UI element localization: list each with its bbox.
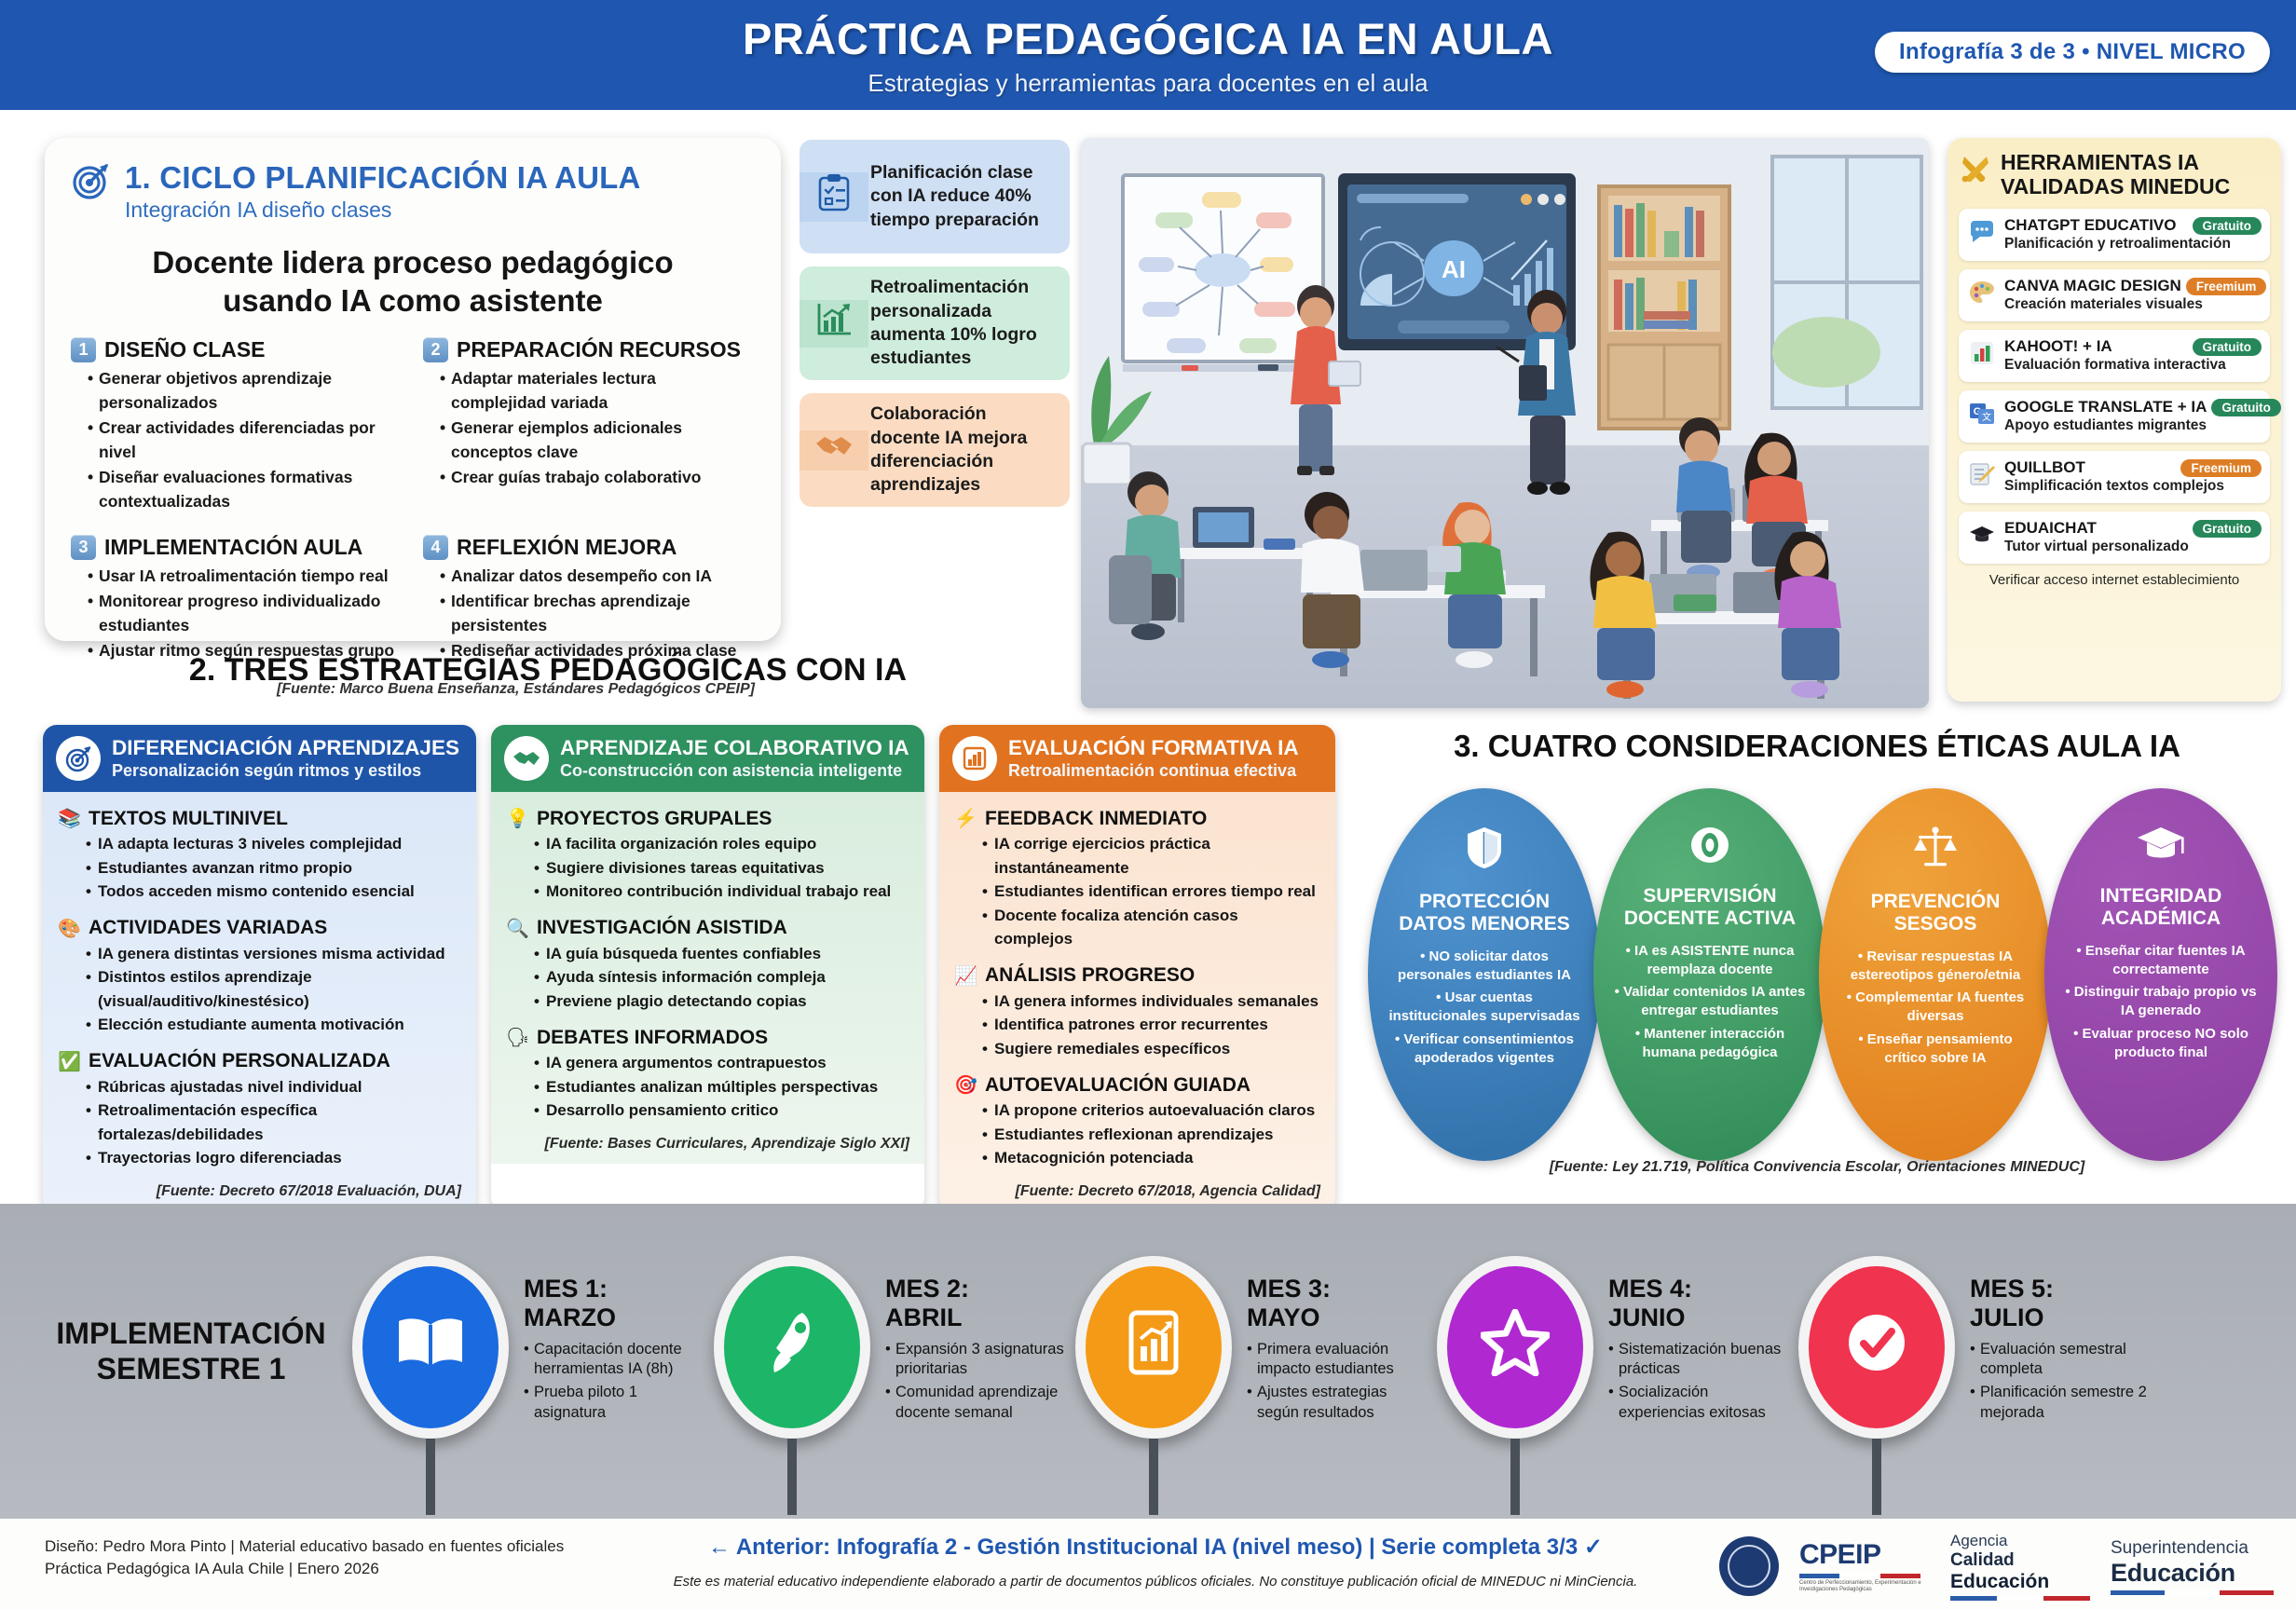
- list-item: Metacognición potenciada: [982, 1146, 1320, 1170]
- strategy-group: 🎨 ACTIVIDADES VARIADAS IA genera distint…: [58, 917, 461, 1037]
- tool-description: Evaluación formativa interactiva: [2004, 357, 2262, 374]
- classroom-illustration: AI: [1081, 138, 1929, 708]
- timeline-month-name: MARZO: [524, 1303, 703, 1332]
- panel1-banner-line2: usando IA como asistente: [71, 281, 755, 320]
- list-item: Sugiere divisiones tareas equitativas: [534, 856, 909, 880]
- panel1-step: 1 DISEÑO CLASE Generar objetivos aprendi…: [71, 337, 403, 515]
- tool-item[interactable]: QUILLBOT Freemium Simplificación textos …: [1959, 451, 2270, 503]
- footer-credit-line2: Práctica Pedagógica IA Aula Chile | Ener…: [45, 1558, 564, 1580]
- tools-title-line2: VALIDADAS MINEDUC: [2001, 175, 2230, 199]
- tools-header: HERRAMIENTAS IA VALIDADAS MINEDUC: [1959, 151, 2270, 199]
- tool-name: CHATGPT EDUCATIVO: [2004, 216, 2176, 235]
- header-center: PRÁCTICA PEDAGÓGICA IA EN AULA Estrategi…: [743, 13, 1553, 98]
- timeline-bubble-wrap: [1798, 1256, 1955, 1439]
- timeline-month: MES 5: JULIO Evaluación semestral comple…: [1798, 1256, 2149, 1439]
- previous-infographic-link[interactable]: ← Anterior: Infografía 2 - Gestión Insti…: [596, 1534, 1715, 1561]
- implementation-timeline: IMPLEMENTACIÓN SEMESTRE 1 MES 1: MARZO C…: [0, 1204, 2296, 1519]
- timeline-list: Sistematización buenas prácticas Sociali…: [1608, 1340, 1787, 1424]
- panel1-step: 4 REFLEXIÓN MEJORA Analizar datos desemp…: [423, 535, 755, 662]
- footer-center: ← Anterior: Infografía 2 - Gestión Insti…: [596, 1534, 1715, 1590]
- panel1-step: 2 PREPARACIÓN RECURSOS Adaptar materiale…: [423, 337, 755, 515]
- list-item: Rúbricas ajustadas nivel individual: [86, 1075, 461, 1099]
- ai-tools-panel: HERRAMIENTAS IA VALIDADAS MINEDUC CHATGP…: [1947, 138, 2281, 702]
- timeline-text: MES 4: JUNIO Sistematización buenas prác…: [1608, 1256, 1787, 1426]
- timeline-month-label: MES 3: MAYO: [1247, 1275, 1426, 1332]
- strategy-group-header: 🗣 DEBATES INFORMADOS: [506, 1026, 909, 1049]
- strategy-card-body: 📚 TEXTOS MULTINIVEL IA adapta lecturas 3…: [43, 792, 476, 1211]
- timeline-bubble: [352, 1256, 509, 1439]
- agencia-line3: Educación: [1950, 1571, 2090, 1593]
- strategy-card-titles: EVALUACIÓN FORMATIVA IA Retroalimentació…: [1008, 736, 1299, 781]
- strategy-card-header: DIFERENCIACIÓN APRENDIZAJES Personalizac…: [43, 725, 476, 792]
- chat-bubble-icon: [1967, 221, 1997, 249]
- ethics-list: NO solicitar datos personales estudiante…: [1387, 948, 1582, 1072]
- panel1-header: 1. CICLO PLANIFICACIÓN IA AULA Integraci…: [71, 160, 755, 223]
- list-item: IA genera informes individuales semanale…: [982, 989, 1320, 1014]
- timeline-month: MES 1: MARZO Capacitación docente herram…: [352, 1256, 703, 1439]
- strategy-group-list: IA corrige ejercicios práctica instantán…: [954, 832, 1320, 951]
- list-item: NO solicitar datos personales estudiante…: [1387, 948, 1582, 985]
- ethics-list: IA es ASISTENTE nunca reemplaza docente …: [1612, 942, 1808, 1067]
- tool-description: Tutor virtual personalizado: [2004, 539, 2262, 555]
- strategy-card: APRENDIZAJE COLABORATIVO IA Co-construcc…: [491, 725, 924, 1211]
- chile-seal-icon: [1719, 1536, 1779, 1596]
- agencia-line1: Agencia: [1950, 1532, 2090, 1550]
- series-badge: Infografía 3 de 3 • NIVEL MICRO: [1875, 32, 2270, 73]
- step-header: 1 DISEÑO CLASE: [71, 337, 403, 362]
- ethics-item: SUPERVISIÓN DOCENTE ACTIVA IA es ASISTEN…: [1593, 788, 1826, 1161]
- ethics-title-line2: DOCENTE ACTIVA: [1624, 907, 1796, 930]
- list-item: Verificar consentimientos apoderados vig…: [1387, 1030, 1582, 1068]
- stat-text: Colaboración docente IA mejora diferenci…: [868, 393, 1070, 506]
- translate-icon: G文: [1967, 402, 1997, 431]
- stat-card: Colaboración docente IA mejora diferenci…: [799, 393, 1070, 507]
- bar-chart-icon: [952, 736, 997, 781]
- clipboard-check-icon: [799, 172, 868, 222]
- list-item: Diseñar evaluaciones formativas contextu…: [88, 465, 403, 514]
- planning-cycle-panel: 1. CICLO PLANIFICACIÓN IA AULA Integraci…: [45, 138, 781, 641]
- timeline-list: Primera evaluación impacto estudiantes A…: [1247, 1340, 1426, 1424]
- list-item: Usar IA retroalimentación tiempo real: [88, 564, 403, 589]
- list-item: Enseñar pensamiento crítico sobre IA: [1838, 1030, 2033, 1068]
- tool-name: GOOGLE TRANSLATE + IA: [2004, 398, 2207, 416]
- section3-source: [Fuente: Ley 21.719, Política Convivenci…: [1351, 1159, 2283, 1176]
- list-item: Monitorear progreso individualizado estu…: [88, 589, 403, 638]
- timeline-month-name: JULIO: [1970, 1303, 2149, 1332]
- status-badge: Gratuito: [2211, 399, 2281, 416]
- page-subtitle: Estrategias y herramientas para docentes…: [743, 69, 1553, 98]
- stat-card: Retroalimentación personalizada aumenta …: [799, 266, 1070, 380]
- strategy-group-title: AUTOEVALUACIÓN GUIADA: [985, 1074, 1250, 1097]
- timeline-stem: [1872, 1439, 1881, 1515]
- strategy-group-title: EVALUACIÓN PERSONALIZADA: [89, 1050, 390, 1072]
- timeline-stem: [787, 1439, 797, 1515]
- cpeip-subtext: Centro de Perfeccionamiento, Experimenta…: [1799, 1580, 1930, 1594]
- timeline-list: Evaluación semestral completa Planificac…: [1970, 1340, 2149, 1424]
- tool-description: Creación materiales visuales: [2004, 296, 2262, 313]
- strategy-group: 🎯 AUTOEVALUACIÓN GUIADA IA propone crite…: [954, 1073, 1320, 1170]
- agencia-calidad-logo: Agencia Calidad Educación: [1950, 1532, 2090, 1601]
- ethics-title: PROTECCIÓN DATOS MENORES: [1399, 891, 1570, 936]
- strategy-source: [Fuente: Bases Curriculares, Aprendizaje…: [506, 1136, 909, 1153]
- tool-body: EDUAICHAT Gratuito Tutor virtual persona…: [2004, 519, 2262, 555]
- timeline-stem: [1510, 1439, 1520, 1515]
- timeline-month-name: ABRIL: [885, 1303, 1064, 1332]
- check-circle-icon: [1841, 1307, 1912, 1387]
- tool-description: Planificación y retroalimentación: [2004, 236, 2262, 252]
- timeline-bubble: [1437, 1256, 1593, 1439]
- list-item: Revisar respuestas IA estereotipos géner…: [1838, 948, 2033, 985]
- star-icon: [1481, 1309, 1550, 1385]
- flag-bar: [1950, 1596, 2090, 1601]
- step-title: REFLEXIÓN MEJORA: [457, 535, 676, 560]
- strategy-title: APRENDIZAJE COLABORATIVO IA: [560, 736, 909, 760]
- lightning-icon: ⚡: [954, 807, 977, 830]
- step-number-badge: 3: [71, 535, 96, 560]
- speech-balloon-icon: 🗣: [506, 1026, 528, 1049]
- panel1-banner: Docente lidera proceso pedagógico usando…: [71, 243, 755, 321]
- ethics-title-line2: DATOS MENORES: [1399, 913, 1570, 935]
- timeline-label: IMPLEMENTACIÓN SEMESTRE 1: [37, 1316, 345, 1387]
- strategy-title: EVALUACIÓN FORMATIVA IA: [1008, 736, 1299, 760]
- list-item: Identifica patrones error recurrentes: [982, 1013, 1320, 1037]
- strategy-cards: DIFERENCIACIÓN APRENDIZAJES Personalizac…: [43, 725, 1335, 1211]
- timeline-month-name: MAYO: [1247, 1303, 1426, 1332]
- panel1-titles: 1. CICLO PLANIFICACIÓN IA AULA Integraci…: [125, 160, 641, 223]
- step-title: DISEÑO CLASE: [104, 337, 266, 362]
- list-item: Generar objetivos aprendizaje personaliz…: [88, 366, 403, 416]
- eye-icon: [1686, 825, 1734, 872]
- tool-item[interactable]: CHATGPT EDUCATIVO Gratuito Planificación…: [1959, 209, 2270, 261]
- strategy-title: DIFERENCIACIÓN APRENDIZAJES: [112, 736, 459, 760]
- strategy-group-title: INVESTIGACIÓN ASISTIDA: [537, 917, 787, 939]
- strategy-group: ⚡ FEEDBACK INMEDIATO IA corrige ejercici…: [954, 807, 1320, 951]
- tool-name: EDUAICHAT: [2004, 519, 2097, 538]
- list-item: IA facilita organización roles equipo: [534, 832, 909, 856]
- timeline-mes: MES 2:: [885, 1275, 1064, 1303]
- list-item: Estudiantes identifican errores tiempo r…: [982, 880, 1320, 904]
- tool-description: Simplificación textos complejos: [2004, 478, 2262, 495]
- strategy-group-list: IA genera distintas versiones misma acti…: [58, 942, 461, 1037]
- strategy-card-header: EVALUACIÓN FORMATIVA IA Retroalimentació…: [939, 725, 1335, 792]
- timeline-bubble-wrap: [1437, 1256, 1593, 1439]
- super-line1: Superintendencia: [2111, 1538, 2274, 1559]
- timeline-bubble: [1075, 1256, 1232, 1439]
- step-list: Usar IA retroalimentación tiempo real Mo…: [71, 564, 403, 662]
- ethics-title-line1: INTEGRIDAD: [2100, 885, 2222, 907]
- list-item: Desarrollo pensamiento critico: [534, 1098, 909, 1123]
- tools-title-line1: HERRAMIENTAS IA: [2001, 151, 2230, 175]
- step-number-badge: 4: [423, 535, 448, 560]
- list-item: Validar contenidos IA antes entregar est…: [1612, 983, 1808, 1020]
- list-item: Analizar datos desempeño con IA: [440, 564, 755, 589]
- target-arrow-icon: 🎯: [954, 1073, 977, 1097]
- ethics-list: Enseñar citar fuentes IA correctamente D…: [2063, 942, 2259, 1067]
- pencil-note-icon: [1967, 462, 1997, 492]
- strategy-group-list: IA guía búsqueda fuentes confiables Ayud…: [506, 942, 909, 1014]
- strategy-group-header: ✅ EVALUACIÓN PERSONALIZADA: [58, 1050, 461, 1073]
- stat-card: Planificación clase con IA reduce 40% ti…: [799, 140, 1070, 253]
- shield-icon: [1464, 825, 1505, 878]
- step-list: Generar objetivos aprendizaje personaliz…: [71, 366, 403, 515]
- page-footer: Diseño: Pedro Mora Pinto | Material educ…: [0, 1519, 2296, 1610]
- handshake-icon: [504, 736, 549, 781]
- check-box-icon: ✅: [58, 1050, 80, 1073]
- strategy-group-title: DEBATES INFORMADOS: [537, 1027, 768, 1049]
- panel1-title: 1. CICLO PLANIFICACIÓN IA AULA: [125, 160, 641, 196]
- page-header: PRÁCTICA PEDAGÓGICA IA EN AULA Estrategi…: [0, 0, 2296, 110]
- strategy-card: EVALUACIÓN FORMATIVA IA Retroalimentació…: [939, 725, 1335, 1211]
- list-item: IA es ASISTENTE nunca reemplaza docente: [1612, 942, 1808, 979]
- tool-body: CANVA MAGIC DESIGN Freemium Creación mat…: [2004, 277, 2262, 313]
- footer-credit: Diseño: Pedro Mora Pinto | Material educ…: [45, 1535, 564, 1580]
- timeline-text: MES 3: MAYO Primera evaluación impacto e…: [1247, 1256, 1426, 1426]
- graduation-cap-icon: [1967, 525, 1997, 551]
- timeline-month-label: MES 5: JULIO: [1970, 1275, 2149, 1332]
- ethics-title-line2: SESGOS: [1871, 913, 2001, 935]
- tool-item[interactable]: EDUAICHAT Gratuito Tutor virtual persona…: [1959, 512, 2270, 564]
- strategy-group: 📈 ANÁLISIS PROGRESO IA genera informes i…: [954, 964, 1320, 1061]
- bar-chart-up-icon: [799, 300, 868, 348]
- tool-row: EDUAICHAT Gratuito: [2004, 519, 2262, 538]
- status-badge: Gratuito: [2193, 520, 2262, 538]
- panel1-step: 3 IMPLEMENTACIÓN AULA Usar IA retroalime…: [71, 535, 403, 662]
- strategy-group-list: IA genera informes individuales semanale…: [954, 989, 1320, 1061]
- step-title: IMPLEMENTACIÓN AULA: [104, 535, 362, 560]
- strategy-group-title: FEEDBACK INMEDIATO: [985, 808, 1207, 830]
- list-item: Enseñar citar fuentes IA correctamente: [2063, 942, 2259, 979]
- list-item: Usar cuentas institucionales supervisada…: [1387, 989, 1582, 1026]
- list-item: Generar ejemplos adicionales conceptos c…: [440, 416, 755, 465]
- open-book-icon: [394, 1314, 467, 1381]
- list-item: IA adapta lecturas 3 niveles complejidad: [86, 832, 461, 856]
- ethics-circles: PROTECCIÓN DATOS MENORES NO solicitar da…: [1368, 788, 2277, 1161]
- tools-note: Verificar acceso internet establecimient…: [1959, 572, 2270, 588]
- list-item: Elección estudiante aumenta motivación: [86, 1013, 461, 1037]
- list-item: IA corrige ejercicios práctica instantán…: [982, 832, 1320, 880]
- step-header: 4 REFLEXIÓN MEJORA: [423, 535, 755, 560]
- timeline-month-name: JUNIO: [1608, 1303, 1787, 1332]
- strategy-group-title: PROYECTOS GRUPALES: [537, 808, 772, 830]
- tool-item[interactable]: G文 GOOGLE TRANSLATE + IA Gratuito Apoyo …: [1959, 390, 2270, 443]
- ethics-title-line1: PROTECCIÓN: [1399, 891, 1570, 913]
- strategy-group-title: ACTIVIDADES VARIADAS: [89, 917, 327, 939]
- strategy-card-header: APRENDIZAJE COLABORATIVO IA Co-construcc…: [491, 725, 924, 792]
- super-line2: Educación: [2111, 1559, 2274, 1588]
- tool-row: CANVA MAGIC DESIGN Freemium: [2004, 277, 2262, 295]
- flag-bar: [2111, 1590, 2274, 1595]
- list-item: Distinguir trabajo propio vs IA generado: [2063, 983, 2259, 1020]
- strategy-group-header: 🎨 ACTIVIDADES VARIADAS: [58, 917, 461, 940]
- list-item: Adaptar materiales lectura complejidad v…: [440, 366, 755, 416]
- timeline-list: Expansión 3 asignaturas prioritarias Com…: [885, 1340, 1064, 1424]
- ethics-item: PROTECCIÓN DATOS MENORES NO solicitar da…: [1368, 788, 1601, 1161]
- step-header: 3 IMPLEMENTACIÓN AULA: [71, 535, 403, 560]
- tool-body: GOOGLE TRANSLATE + IA Gratuito Apoyo est…: [2004, 398, 2262, 434]
- list-item: Mantener interacción humana pedagógica: [1612, 1025, 1808, 1062]
- list-item: Capacitación docente herramientas IA (8h…: [524, 1340, 703, 1381]
- list-item: IA genera distintas versiones misma acti…: [86, 942, 461, 966]
- svg-text:文: 文: [1982, 411, 1991, 423]
- list-item: IA propone criterios autoevaluación clar…: [982, 1098, 1320, 1123]
- list-item: Docente focaliza atención casos complejo…: [982, 904, 1320, 951]
- tool-item[interactable]: KAHOOT! + IA Gratuito Evaluación formati…: [1959, 330, 2270, 382]
- footer-logos: CPEIP Centro de Perfeccionamiento, Exper…: [1719, 1532, 2274, 1601]
- timeline-label-line2: SEMESTRE 1: [37, 1351, 345, 1386]
- ethics-item: PREVENCIÓN SESGOS Revisar respuestas IA …: [1819, 788, 2052, 1161]
- tool-row: KAHOOT! + IA Gratuito: [2004, 337, 2262, 356]
- tools-icon: [1959, 151, 1992, 189]
- ethics-title: SUPERVISIÓN DOCENTE ACTIVA: [1624, 885, 1796, 931]
- books-icon: 📚: [58, 807, 80, 830]
- panel1-banner-line1: Docente lidera proceso pedagógico: [71, 243, 755, 281]
- flag-bar: [1799, 1574, 1920, 1578]
- list-item: Ajustes estrategias según resultados: [1247, 1383, 1426, 1424]
- list-item: Expansión 3 asignaturas prioritarias: [885, 1340, 1064, 1381]
- timeline-mes: MES 3:: [1247, 1275, 1426, 1303]
- footer-disclaimer: Este es material educativo independiente…: [596, 1574, 1715, 1590]
- timeline-month: MES 3: MAYO Primera evaluación impacto e…: [1075, 1256, 1426, 1439]
- step-header: 2 PREPARACIÓN RECURSOS: [423, 337, 755, 362]
- step-title: PREPARACIÓN RECURSOS: [457, 337, 741, 362]
- list-item: IA guía búsqueda fuentes confiables: [534, 942, 909, 966]
- strategy-group: 💡 PROYECTOS GRUPALES IA facilita organiz…: [506, 807, 909, 904]
- chart-doc-icon: [1126, 1309, 1182, 1385]
- strategy-group-header: 📚 TEXTOS MULTINIVEL: [58, 807, 461, 830]
- strategy-group-list: IA adapta lecturas 3 niveles complejidad…: [58, 832, 461, 904]
- ethics-title-line1: PREVENCIÓN: [1871, 891, 2001, 913]
- palette-icon: 🎨: [58, 917, 80, 940]
- list-item: Planificación semestre 2 mejorada: [1970, 1383, 2149, 1424]
- ethics-title-line1: SUPERVISIÓN: [1624, 885, 1796, 907]
- list-item: Todos acceden mismo contenido esencial: [86, 880, 461, 904]
- strategy-subtitle: Personalización según ritmos y estilos: [112, 761, 459, 781]
- timeline-bubble-wrap: [714, 1256, 870, 1439]
- cpeip-wordmark: CPEIP: [1799, 1539, 1930, 1571]
- tool-row: GOOGLE TRANSLATE + IA Gratuito: [2004, 398, 2262, 416]
- panel1-steps-grid: 1 DISEÑO CLASE Generar objetivos aprendi…: [71, 337, 755, 663]
- strategy-card-titles: APRENDIZAJE COLABORATIVO IA Co-construcc…: [560, 736, 909, 781]
- target-icon: [56, 736, 101, 781]
- list-item: Trayectorias logro diferenciadas: [86, 1146, 461, 1170]
- tool-body: KAHOOT! + IA Gratuito Evaluación formati…: [2004, 337, 2262, 374]
- strategy-subtitle: Co-construcción con asistencia inteligen…: [560, 761, 909, 781]
- timeline-bubble-wrap: [1075, 1256, 1232, 1439]
- timeline-label-line1: IMPLEMENTACIÓN: [37, 1316, 345, 1351]
- list-item: Monitoreo contribución individual trabaj…: [534, 880, 909, 904]
- strategy-card: DIFERENCIACIÓN APRENDIZAJES Personalizac…: [43, 725, 476, 1211]
- status-badge: Freemium: [2180, 459, 2262, 477]
- strategy-group-header: ⚡ FEEDBACK INMEDIATO: [954, 807, 1320, 830]
- timeline-month: MES 4: JUNIO Sistematización buenas prác…: [1437, 1256, 1787, 1439]
- page-title: PRÁCTICA PEDAGÓGICA IA EN AULA: [743, 13, 1553, 64]
- timeline-month-label: MES 1: MARZO: [524, 1275, 703, 1332]
- list-item: Crear guías trabajo colaborativo: [440, 465, 755, 490]
- bar-chart-icon: [1967, 341, 1997, 371]
- strategy-source: [Fuente: Decreto 67/2018 Evaluación, DUA…: [58, 1183, 461, 1200]
- status-badge: Freemium: [2186, 278, 2267, 295]
- scales-icon: [1911, 825, 1960, 878]
- list-item: Estudiantes reflexionan aprendizajes: [982, 1123, 1320, 1147]
- strategy-group: 🗣 DEBATES INFORMADOS IA genera argumento…: [506, 1026, 909, 1123]
- timeline-mes: MES 5:: [1970, 1275, 2149, 1303]
- chart-line-icon: 📈: [954, 964, 977, 988]
- strategy-group-header: 💡 PROYECTOS GRUPALES: [506, 807, 909, 830]
- list-item: Identificar brechas aprendizaje persiste…: [440, 589, 755, 638]
- strategy-group-header: 🎯 AUTOEVALUACIÓN GUIADA: [954, 1073, 1320, 1097]
- tool-body: CHATGPT EDUCATIVO Gratuito Planificación…: [2004, 216, 2262, 252]
- list-item: IA genera argumentos contrapuestos: [534, 1051, 909, 1075]
- strategy-card-titles: DIFERENCIACIÓN APRENDIZAJES Personalizac…: [112, 736, 459, 781]
- timeline-text: MES 2: ABRIL Expansión 3 asignaturas pri…: [885, 1256, 1064, 1426]
- list-item: Primera evaluación impacto estudiantes: [1247, 1340, 1426, 1381]
- list-item: Comunidad aprendizaje docente semanal: [885, 1383, 1064, 1424]
- tools-title: HERRAMIENTAS IA VALIDADAS MINEDUC: [2001, 151, 2230, 199]
- timeline-bubble: [714, 1256, 870, 1439]
- list-item: Socialización experiencias exitosas: [1608, 1383, 1787, 1424]
- timeline-mes: MES 4:: [1608, 1275, 1787, 1303]
- list-item: Complementar IA fuentes diversas: [1838, 989, 2033, 1026]
- step-list: Adaptar materiales lectura complejidad v…: [423, 366, 755, 490]
- strategy-group-title: TEXTOS MULTINIVEL: [89, 808, 288, 830]
- strategy-group: 📚 TEXTOS MULTINIVEL IA adapta lecturas 3…: [58, 807, 461, 904]
- strategy-card-body: 💡 PROYECTOS GRUPALES IA facilita organiz…: [491, 792, 924, 1164]
- strategy-group: 🔍 INVESTIGACIÓN ASISTIDA IA guía búsqued…: [506, 917, 909, 1014]
- timeline-bubble: [1798, 1256, 1955, 1439]
- handshake-icon: [799, 430, 868, 471]
- cpeip-logo: CPEIP Centro de Perfeccionamiento, Exper…: [1799, 1539, 1930, 1594]
- tool-name: CANVA MAGIC DESIGN: [2004, 277, 2181, 295]
- list-item: Sistematización buenas prácticas: [1608, 1340, 1787, 1381]
- timeline-month-label: MES 2: ABRIL: [885, 1275, 1064, 1332]
- step-number-badge: 1: [71, 337, 96, 362]
- timeline-month-label: MES 4: JUNIO: [1608, 1275, 1787, 1332]
- strategy-group-list: IA genera argumentos contrapuestos Estud…: [506, 1051, 909, 1123]
- timeline-stem: [1149, 1439, 1158, 1515]
- strategy-group-title: ANÁLISIS PROGRESO: [985, 964, 1195, 987]
- status-badge: Gratuito: [2193, 217, 2262, 235]
- ethics-title: INTEGRIDAD ACADÉMICA: [2100, 885, 2222, 931]
- timeline-bubble-wrap: [352, 1256, 509, 1439]
- magnifier-icon: 🔍: [506, 917, 528, 940]
- list-item: Evaluar proceso NO solo producto final: [2063, 1025, 2259, 1062]
- timeline-month: MES 2: ABRIL Expansión 3 asignaturas pri…: [714, 1256, 1064, 1439]
- list-item: Ayuda síntesis información compleja: [534, 965, 909, 989]
- list-item: Estudiantes avanzan ritmo propio: [86, 856, 461, 880]
- timeline-mes: MES 1:: [524, 1275, 703, 1303]
- timeline-stem: [426, 1439, 435, 1515]
- tool-body: QUILLBOT Freemium Simplificación textos …: [2004, 458, 2262, 495]
- timeline-text: MES 1: MARZO Capacitación docente herram…: [524, 1256, 703, 1426]
- superintendencia-logo: Superintendencia Educación: [2111, 1538, 2274, 1595]
- panel1-subtitle: Integración IA diseño clases: [125, 198, 641, 223]
- tool-row: QUILLBOT Freemium: [2004, 458, 2262, 477]
- palette-icon: [1967, 280, 1997, 310]
- strategy-subtitle: Retroalimentación continua efectiva: [1008, 761, 1299, 781]
- strategy-source: [Fuente: Decreto 67/2018, Agencia Calida…: [954, 1183, 1320, 1200]
- timeline-list: Capacitación docente herramientas IA (8h…: [524, 1340, 703, 1424]
- status-badge: Gratuito: [2193, 338, 2262, 356]
- list-item: Prueba piloto 1 asignatura: [524, 1383, 703, 1424]
- agencia-line2: Calidad: [1950, 1550, 2090, 1571]
- strategy-group-list: IA facilita organización roles equipo Su…: [506, 832, 909, 904]
- tool-item[interactable]: CANVA MAGIC DESIGN Freemium Creación mat…: [1959, 269, 2270, 321]
- strategy-group-header: 🔍 INVESTIGACIÓN ASISTIDA: [506, 917, 909, 940]
- step-list: Analizar datos desempeño con IA Identifi…: [423, 564, 755, 662]
- ethics-title-line2: ACADÉMICA: [2100, 907, 2222, 930]
- lightbulb-icon: 💡: [506, 807, 528, 830]
- list-item: Crear actividades diferenciadas por nive…: [88, 416, 403, 465]
